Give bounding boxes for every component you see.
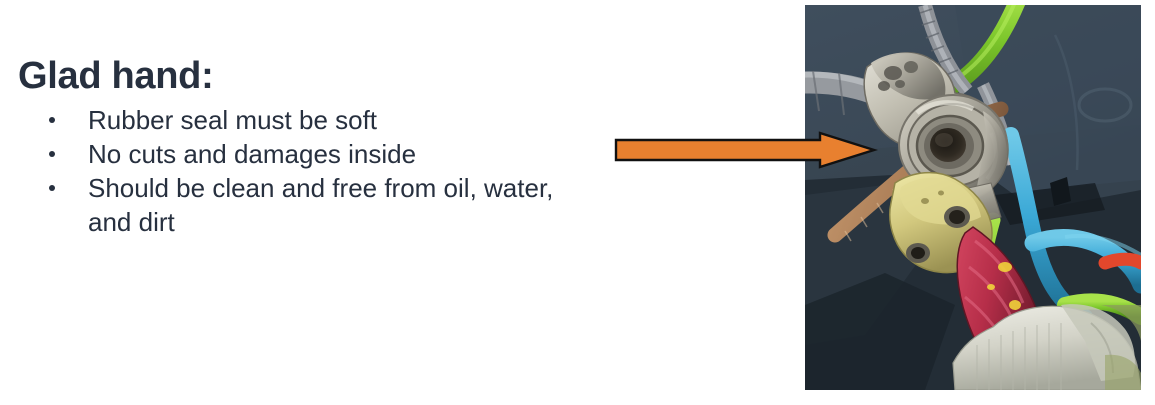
bullet-dot-icon [49, 117, 55, 123]
right-arrow-icon [612, 128, 878, 172]
list-item: Should be clean and free from oil, water… [40, 171, 580, 239]
slide-canvas: Glad hand: Rubber seal must be soft No c… [0, 0, 1155, 405]
page-title: Glad hand: [18, 55, 213, 98]
bullet-list: Rubber seal must be soft No cuts and dam… [40, 103, 580, 239]
list-item-label: No cuts and damages inside [88, 139, 416, 169]
list-item: Rubber seal must be soft [40, 103, 580, 137]
bullet-dot-icon [49, 151, 55, 157]
list-item-label: Should be clean and free from oil, water… [88, 173, 553, 237]
glad-hand-photo [805, 5, 1141, 390]
list-item-label: Rubber seal must be soft [88, 105, 377, 135]
list-item: No cuts and damages inside [40, 137, 580, 171]
bullet-dot-icon [49, 185, 55, 191]
text-column: Glad hand: Rubber seal must be soft No c… [0, 0, 600, 405]
